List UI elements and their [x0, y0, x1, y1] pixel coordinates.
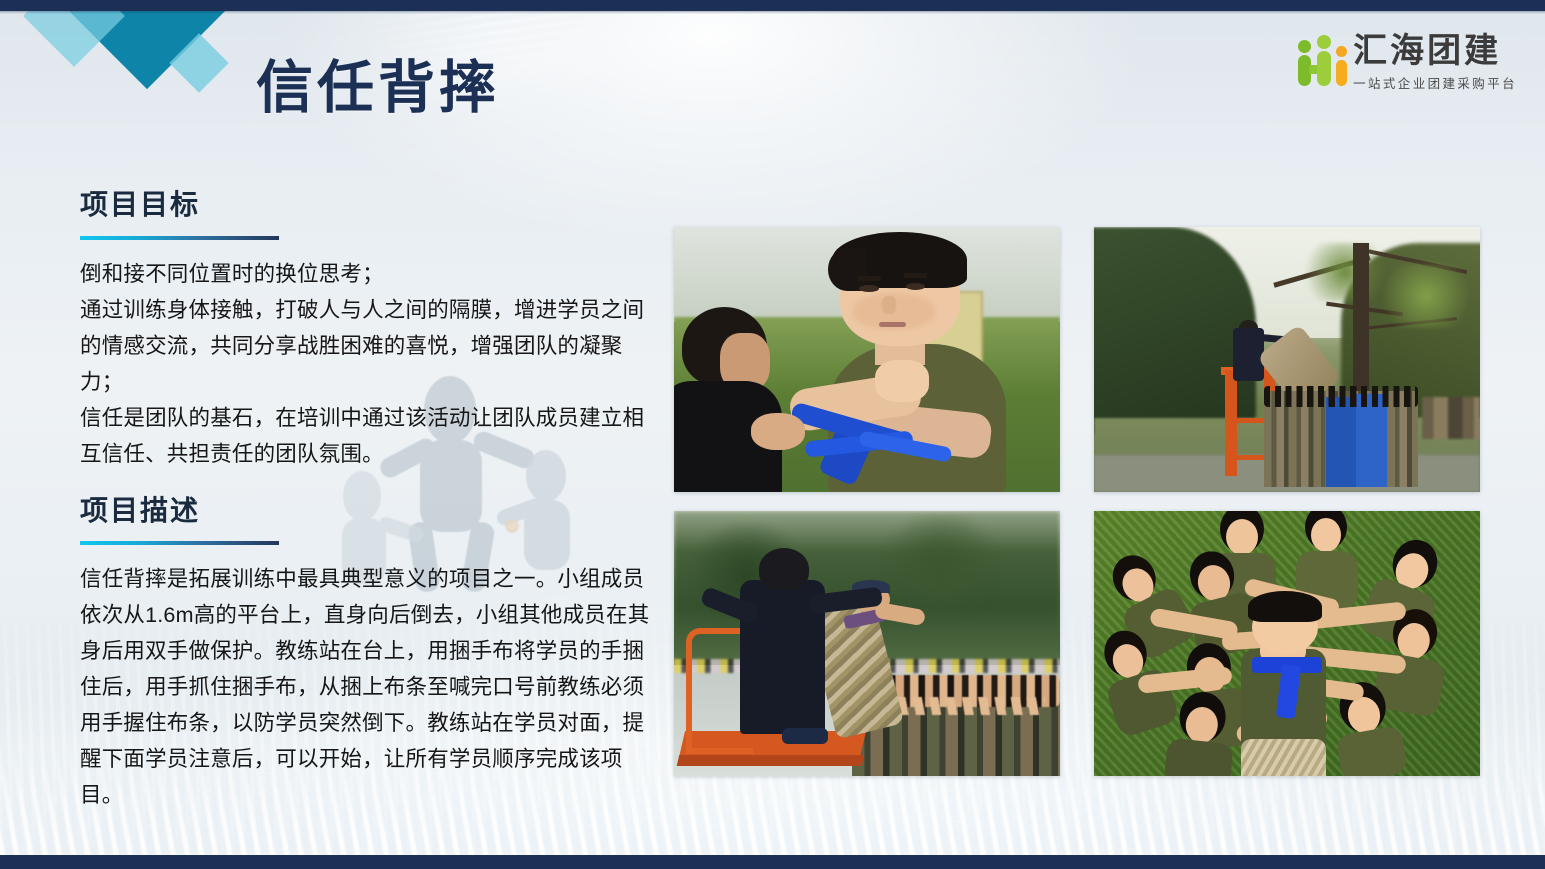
section-body-goal: 倒和接不同位置时的换位思考； 通过训练身体接触，打破人与人之间的隔膜，增进学员之…	[80, 256, 658, 472]
photo-tying-hands	[674, 227, 1060, 492]
logo-tagline: 一站式企业团建采购平台	[1353, 73, 1517, 92]
top-bar	[0, 0, 1545, 11]
section-rule-goal	[80, 236, 279, 240]
photo-grid	[674, 227, 1480, 776]
photo-team-catch-circle	[1094, 511, 1480, 776]
brand-logo: 汇海团建 一站式企业团建采购平台	[1296, 34, 1517, 92]
slide-root: 信任背摔 汇海团建 一站式企业团建采购平台 项目目标 倒和接不同位置时的换位思考…	[0, 0, 1545, 869]
logo-name: 汇海团建	[1353, 34, 1517, 70]
left-content: 项目目标 倒和接不同位置时的换位思考； 通过训练身体接触，打破人与人之间的隔膜，…	[80, 188, 658, 813]
bottom-bar	[0, 855, 1545, 869]
photo-platform-backfall	[674, 511, 1060, 776]
diamond-decoration	[0, 0, 300, 142]
section-rule-description	[80, 541, 279, 545]
section-heading-description: 项目描述	[80, 494, 658, 528]
section-body-description: 信任背摔是拓展训练中最具典型意义的项目之一。小组成员依次从1.6m高的平台上，直…	[80, 561, 658, 813]
page-title: 信任背摔	[256, 60, 500, 117]
photo-outdoor-platform-fall	[1094, 227, 1480, 492]
section-heading-goal: 项目目标	[80, 188, 658, 222]
hi-people-logo-icon	[1296, 34, 1344, 88]
top-bar-shadow	[0, 11, 1545, 14]
